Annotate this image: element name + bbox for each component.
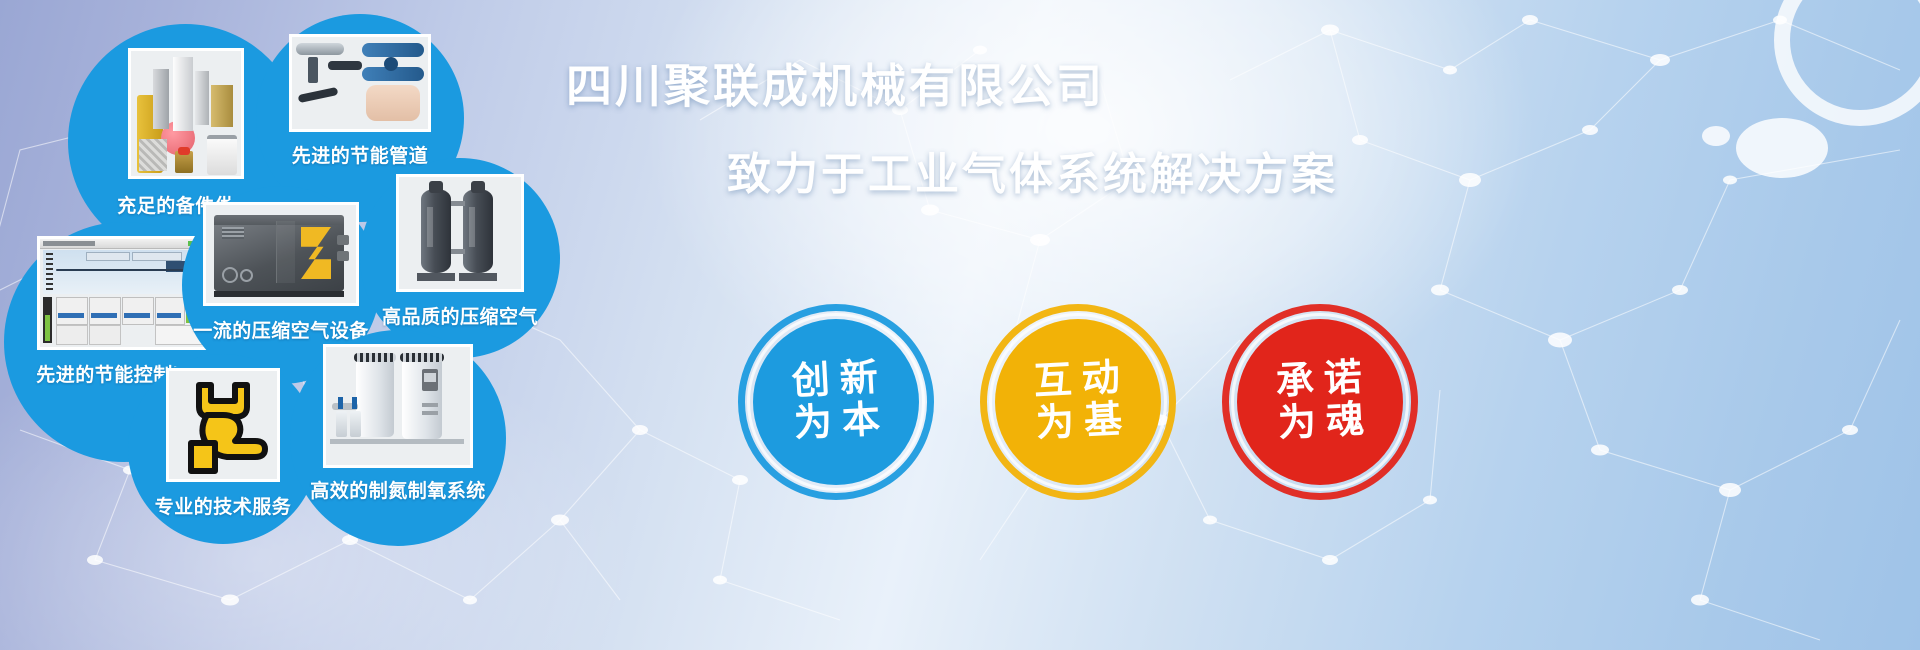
stamp-char: 为 — [793, 403, 833, 445]
stamp-char: 新 — [839, 359, 879, 401]
stamp-char: 动 — [1081, 359, 1121, 401]
product-circle-nitrogen-oxygen[interactable]: 高效的制氮制氧系统 — [290, 330, 506, 546]
stamp-commitment[interactable]: 承 诺 为 魂 — [1222, 304, 1418, 500]
company-tagline: 致力于工业气体系统解决方案 — [727, 138, 1338, 202]
product-circle-technical-service[interactable]: 专业的技术服务 — [128, 354, 318, 544]
nitrogen-oxygen-generator-photo — [323, 344, 473, 468]
stamp-char: 魂 — [1325, 401, 1365, 443]
product-caption-piping: 先进的节能管道 — [292, 141, 429, 168]
stamp-text-interaction: 互 动 为 基 — [1033, 359, 1123, 445]
stamp-char: 为 — [1035, 403, 1075, 445]
screw-compressor-photo — [203, 202, 359, 306]
molecule-ring-decoration — [1782, 0, 1920, 118]
stamp-text-innovation: 创 新 为 本 — [791, 359, 881, 445]
stamp-char: 创 — [791, 361, 831, 403]
stamp-innovation[interactable]: 创 新 为 本 — [738, 304, 934, 500]
product-circle-compressed-air[interactable]: 高品质的压缩空气 — [360, 158, 560, 358]
stamp-interaction[interactable]: 互 动 为 基 — [980, 304, 1176, 500]
product-caption-technical-service: 专业的技术服务 — [155, 492, 292, 519]
stamp-char: 基 — [1083, 401, 1123, 443]
stamp-char: 互 — [1033, 361, 1073, 403]
product-caption-nitrogen-oxygen: 高效的制氮制氧系统 — [310, 476, 486, 503]
company-name-title: 四川聚联成机械有限公司 — [566, 50, 1105, 116]
aluminium-piping-photo — [289, 34, 431, 132]
stamp-char: 为 — [1277, 403, 1317, 445]
stamp-char: 本 — [841, 401, 881, 443]
air-dryer-tanks-photo — [396, 174, 524, 292]
product-caption-compressor: 一流的压缩空气设备 — [193, 316, 369, 343]
wrench-thumbs-up-icon-photo — [166, 368, 280, 482]
stamp-char: 诺 — [1323, 359, 1363, 401]
filter-elements-photo — [128, 48, 244, 179]
stamp-char: 承 — [1275, 361, 1315, 403]
stamp-text-commitment: 承 诺 为 魂 — [1275, 359, 1365, 445]
product-caption-compressed-air: 高品质的压缩空气 — [382, 302, 538, 329]
company-hero-banner: 充足的备件供应 先进的节能管道 — [0, 0, 1920, 650]
